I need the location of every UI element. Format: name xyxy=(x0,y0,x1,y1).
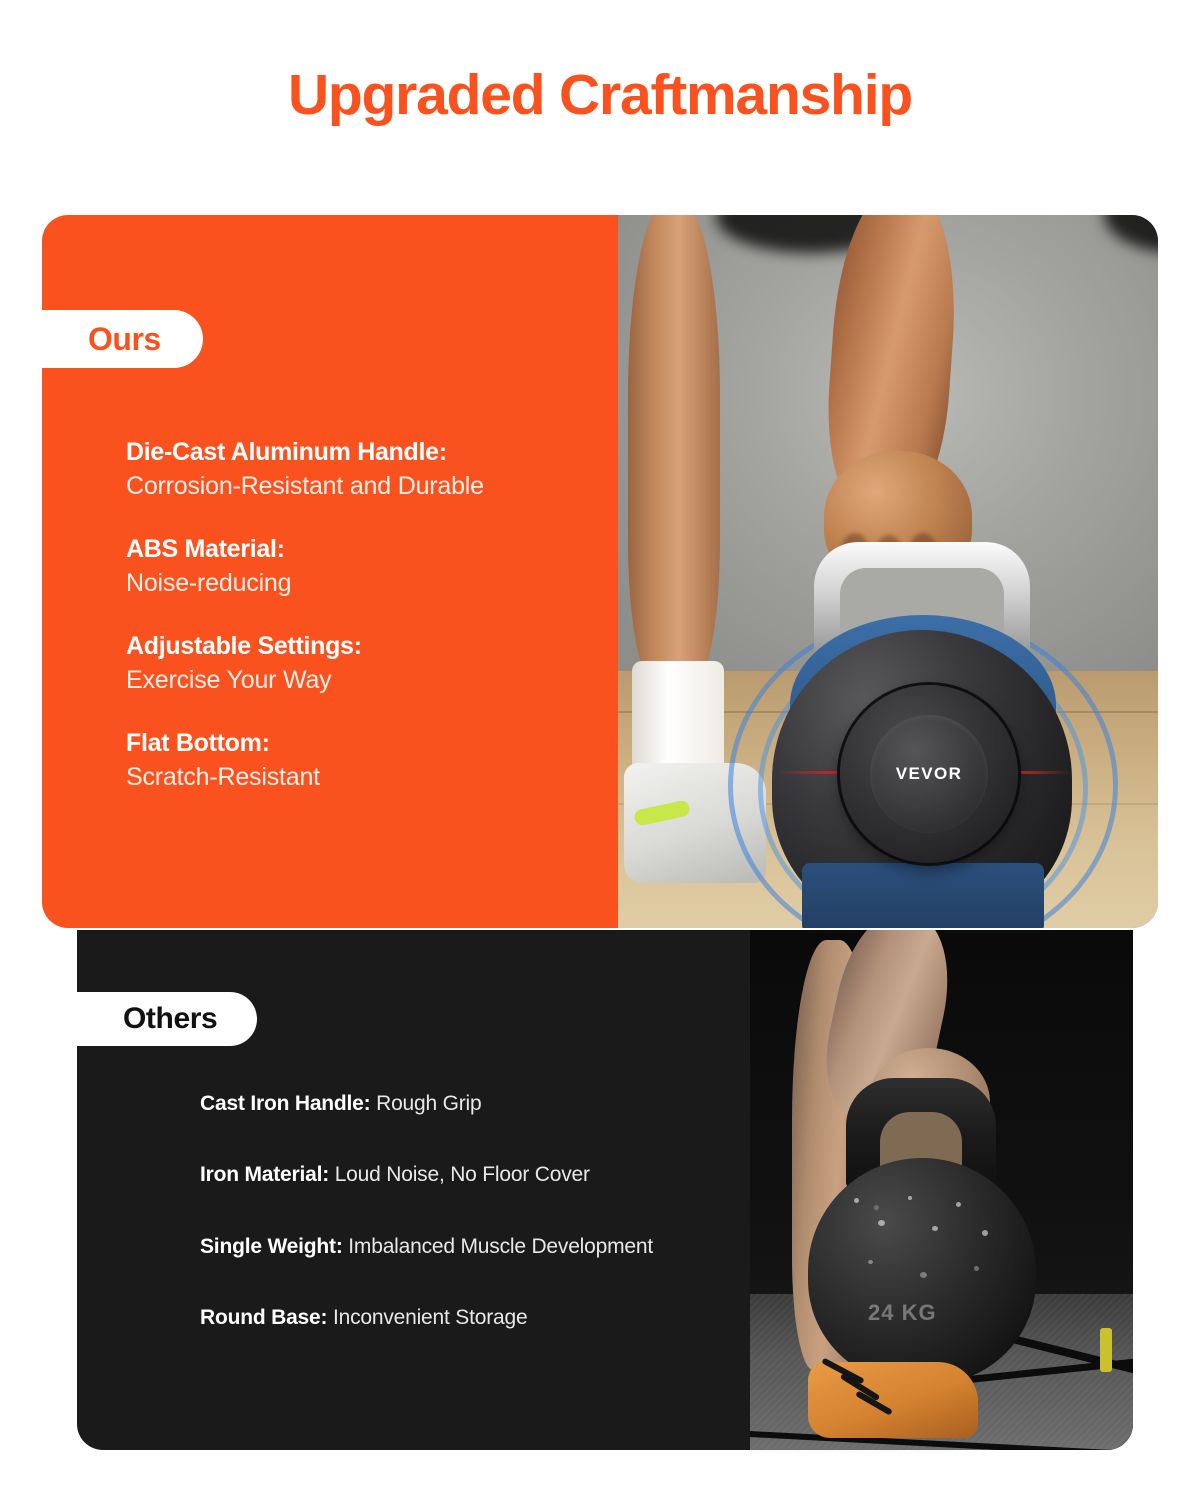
others-badge-label: Others xyxy=(123,1002,217,1036)
cast-iron-kettlebell-body xyxy=(808,1158,1036,1384)
ours-feature-description: Scratch-Resistant xyxy=(126,761,606,795)
others-drawback-list: Cast Iron Handle: Rough Grip Iron Materi… xyxy=(200,1090,840,1331)
page-title: Upgraded Craftmanship xyxy=(0,62,1200,128)
ours-feature-item: Die-Cast Aluminum Handle: Corrosion-Resi… xyxy=(126,437,606,504)
ours-feature-title: Adjustable Settings: xyxy=(126,631,606,662)
ours-comparison-card: Ours Die-Cast Aluminum Handle: Corrosion… xyxy=(42,215,1158,928)
athlete-shoe xyxy=(808,1362,978,1438)
vevor-logo: VEVOR xyxy=(896,764,963,784)
ours-feature-description: Exercise Your Way xyxy=(126,664,606,698)
others-item-label: Round Base: xyxy=(200,1306,327,1329)
ours-feature-description: Noise-reducing xyxy=(126,567,606,601)
others-comparison-card: Others Cast Iron Handle: Rough Grip Iron… xyxy=(77,930,1133,1450)
ours-feature-item: Adjustable Settings: Exercise Your Way xyxy=(126,631,606,698)
gym-equipment-marker xyxy=(1100,1328,1112,1372)
kettlebell-brand-disc: VEVOR xyxy=(870,715,988,833)
ours-feature-title: Flat Bottom: xyxy=(126,728,606,759)
ours-feature-title: Die-Cast Aluminum Handle: xyxy=(126,437,606,468)
ours-feature-list: Die-Cast Aluminum Handle: Corrosion-Resi… xyxy=(126,437,606,795)
others-badge: Others xyxy=(77,992,257,1046)
ours-feature-panel: Ours Die-Cast Aluminum Handle: Corrosion… xyxy=(42,215,618,928)
others-list-item: Single Weight: Imbalanced Muscle Develop… xyxy=(200,1233,840,1260)
others-item-value: Imbalanced Muscle Development xyxy=(348,1235,653,1258)
others-product-photo: 24 KG xyxy=(750,930,1133,1450)
others-list-item: Cast Iron Handle: Rough Grip xyxy=(200,1090,840,1117)
ours-feature-title: ABS Material: xyxy=(126,534,606,565)
others-item-value: Loud Noise, No Floor Cover xyxy=(335,1163,590,1186)
others-item-label: Iron Material: xyxy=(200,1163,329,1186)
ours-feature-description: Corrosion-Resistant and Durable xyxy=(126,470,606,504)
others-list-item: Iron Material: Loud Noise, No Floor Cove… xyxy=(200,1161,840,1188)
ours-feature-item: Flat Bottom: Scratch-Resistant xyxy=(126,728,606,795)
others-list-item: Round Base: Inconvenient Storage xyxy=(200,1304,840,1331)
kettlebell-weight-marking: 24 KG xyxy=(868,1300,937,1326)
others-item-value: Rough Grip xyxy=(376,1092,481,1115)
ours-product-photo: VEVOR xyxy=(618,215,1158,928)
others-item-label: Cast Iron Handle: xyxy=(200,1092,370,1115)
ours-badge-label: Ours xyxy=(88,321,161,358)
ours-feature-item: ABS Material: Noise-reducing xyxy=(126,534,606,601)
kettlebell-flat-base xyxy=(802,863,1044,928)
ours-badge: Ours xyxy=(42,310,203,368)
others-item-value: Inconvenient Storage xyxy=(333,1306,527,1329)
others-item-label: Single Weight: xyxy=(200,1235,343,1258)
